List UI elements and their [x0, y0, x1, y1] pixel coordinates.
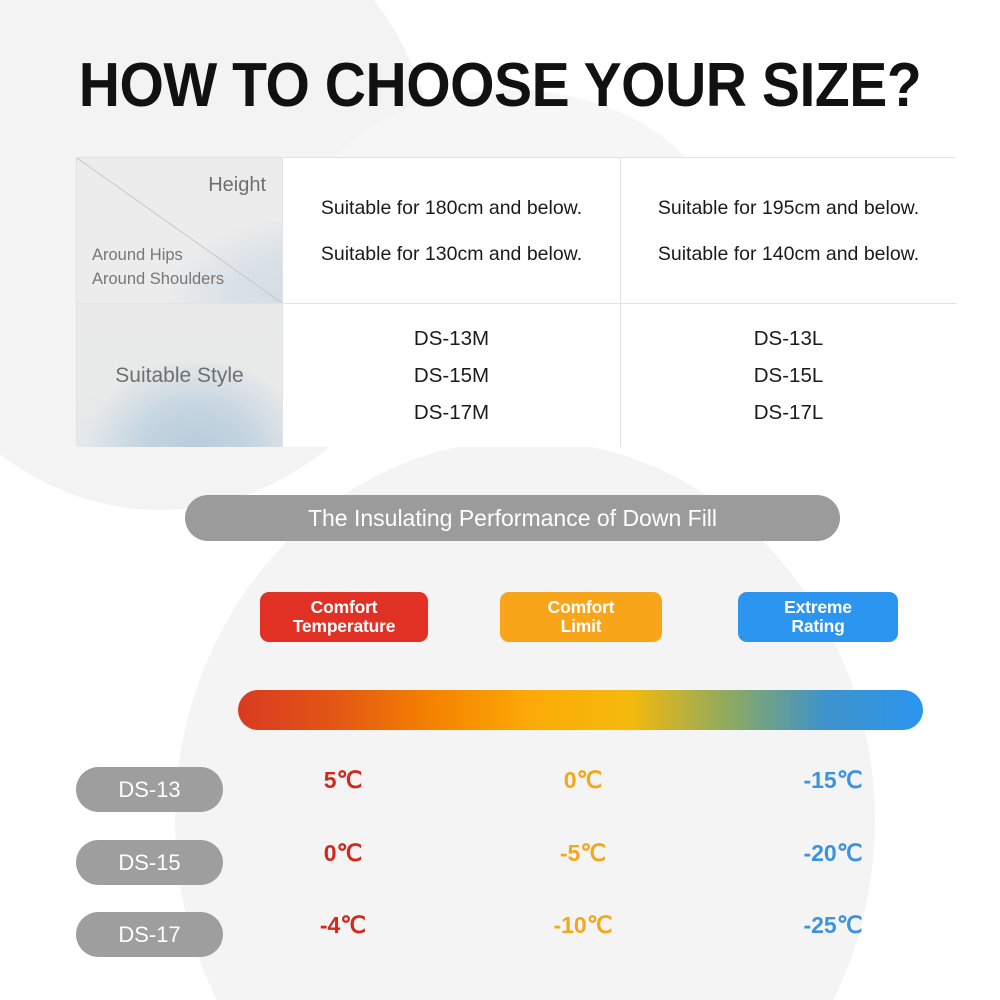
temperature-row-ds13: DS-13 5℃ 0℃ -15℃ [0, 767, 1000, 813]
temperature-gradient-bar [238, 690, 923, 730]
value-comfort-limit-ds13: 0℃ [498, 767, 668, 794]
style-item: DS-13L [754, 320, 824, 357]
table-cell-styles-m: DS-13M DS-15M DS-17M [283, 304, 621, 447]
value-extreme-rating-ds17: -25℃ [748, 912, 918, 939]
temperature-row-ds17: DS-17 -4℃ -10℃ -25℃ [0, 912, 1000, 958]
measure-girth-m: Suitable for 130cm and below. [321, 231, 582, 277]
value-comfort-temperature-ds17: -4℃ [258, 912, 428, 939]
legend-line-1: Comfort [548, 598, 615, 617]
value-extreme-rating-ds15: -20℃ [748, 840, 918, 867]
infographic-canvas: HOW TO CHOOSE YOUR SIZE? Height Around H… [0, 0, 1000, 1000]
temperature-row-ds15: DS-15 0℃ -5℃ -20℃ [0, 840, 1000, 886]
measure-girth-l: Suitable for 140cm and below. [658, 231, 919, 277]
model-pill-ds15: DS-15 [76, 840, 223, 885]
corner-label-shoulders: Around Shoulders [92, 267, 224, 291]
legend-pill-extreme-rating: Extreme Rating [738, 592, 898, 642]
row-header-label: Suitable Style [115, 364, 243, 388]
table-cell-styles-l: DS-13L DS-15L DS-17L [621, 304, 956, 447]
value-comfort-temperature-ds13: 5℃ [258, 767, 428, 794]
corner-label-hips: Around Hips [92, 243, 224, 267]
value-comfort-limit-ds15: -5℃ [498, 840, 668, 867]
insulating-performance-banner: The Insulating Performance of Down Fill [185, 495, 840, 541]
table-cell-measurements-m: Suitable for 180cm and below. Suitable f… [283, 158, 621, 304]
corner-label-height: Height [208, 174, 266, 197]
legend-line-2: Temperature [293, 617, 396, 636]
style-item: DS-17M [414, 394, 489, 431]
style-item: DS-15L [754, 357, 824, 394]
style-item: DS-13M [414, 320, 489, 357]
measure-height-m: Suitable for 180cm and below. [321, 185, 582, 231]
size-chart-table: Height Around Hips Around Shoulders Suit… [76, 157, 955, 446]
legend-line-2: Rating [791, 617, 844, 636]
legend-line-1: Comfort [311, 598, 378, 617]
measure-height-l: Suitable for 195cm and below. [658, 185, 919, 231]
table-corner-header: Height Around Hips Around Shoulders [77, 158, 283, 304]
corner-label-girth: Around Hips Around Shoulders [92, 243, 224, 291]
model-pill-ds13: DS-13 [76, 767, 223, 812]
legend-pill-comfort-limit: Comfort Limit [500, 592, 662, 642]
table-row-header-suitable-style: Suitable Style [77, 304, 283, 447]
value-comfort-temperature-ds15: 0℃ [258, 840, 428, 867]
legend-pill-comfort-temperature: Comfort Temperature [260, 592, 428, 642]
legend-line-1: Extreme [784, 598, 852, 617]
legend-row: Comfort Temperature Comfort Limit Extrem… [0, 592, 1000, 646]
value-comfort-limit-ds17: -10℃ [498, 912, 668, 939]
model-pill-ds17: DS-17 [76, 912, 223, 957]
legend-line-2: Limit [561, 617, 602, 636]
value-extreme-rating-ds13: -15℃ [748, 767, 918, 794]
table-cell-measurements-l: Suitable for 195cm and below. Suitable f… [621, 158, 956, 304]
page-title: HOW TO CHOOSE YOUR SIZE? [40, 52, 960, 120]
style-item: DS-15M [414, 357, 489, 394]
style-item: DS-17L [754, 394, 824, 431]
